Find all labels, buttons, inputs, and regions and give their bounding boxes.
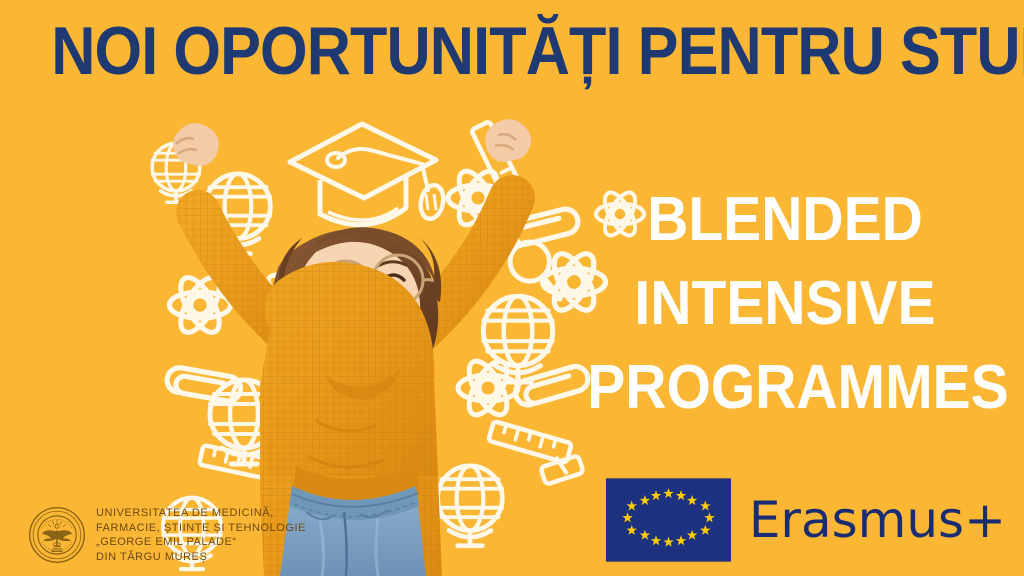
program-title-line-3: PROGRAMMES (587, 346, 983, 430)
poster-canvas: NOI OPORTUNITĂȚI PENTRU STUDENȚI BLENDED… (0, 0, 1024, 576)
university-name-line-2: FARMACIE, ȘTIINȚE ȘI TEHNOLOGIE (96, 521, 306, 536)
cheering-student-photo (120, 100, 590, 576)
university-name-line-1: UNIVERSITATEA DE MEDICINĂ, (96, 506, 306, 521)
program-title-line-1: BLENDED (587, 178, 983, 262)
european-union-flag (606, 478, 731, 562)
erasmus-wordmark: Erasmus+ (749, 494, 1006, 546)
university-name-line-3: „GEORGE EMIL PALADE“ (96, 535, 306, 550)
university-name: UNIVERSITATEA DE MEDICINĂ, FARMACIE, ȘTI… (96, 506, 306, 564)
university-logo: UNIVERSITATEA DE MEDICINĂ, FARMACIE, ȘTI… (28, 506, 306, 564)
program-title: BLENDED INTENSIVE PROGRAMMES (570, 178, 1000, 430)
erasmus-plus-logo: Erasmus+ (606, 478, 1006, 562)
program-title-line-2: INTENSIVE (587, 262, 983, 346)
umfst-seal (28, 506, 86, 564)
page-title: NOI OPORTUNITĂȚI PENTRU STUDENȚI (51, 14, 973, 88)
university-name-line-4: DIN TÂRGU MUREȘ (96, 550, 306, 565)
